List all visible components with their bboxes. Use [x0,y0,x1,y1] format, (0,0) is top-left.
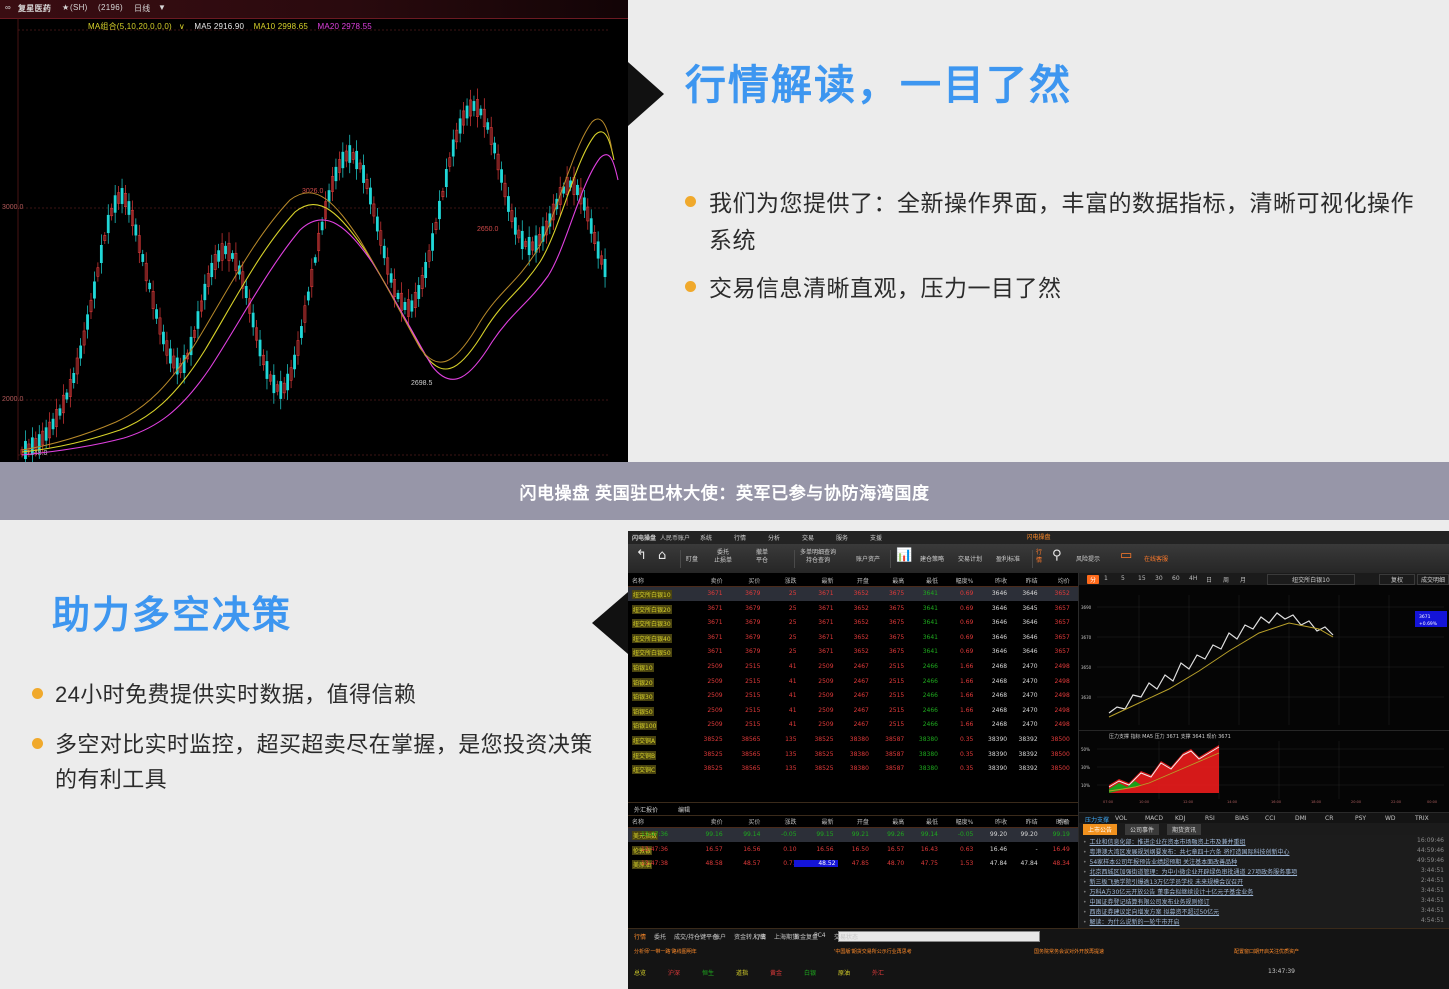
list-item: 交易信息清晰直观，压力一目了然 [685,270,1415,307]
row-cell-6: 3641 [898,634,938,641]
svg-text:20:00: 20:00 [1351,800,1361,804]
news-item[interactable]: •中国证券登记结算有限公司发布业务规则修订3:44:51 [1083,897,1446,907]
row-cell-3: 3671 [794,634,834,641]
bullet-dot-icon [32,688,43,699]
status-item-9[interactable]: PC4 [814,932,826,939]
news-time: 3:44:51 [1421,907,1444,914]
news-item[interactable]: •万科A方30亿元开放公告 董事会拟继续设计十亿元子基金业务3:44:51 [1083,887,1446,897]
news-text: 解读：为什么说新的一轮牛市开启 [1090,919,1180,926]
row-cell-2: 135 [757,736,797,743]
status-item-6[interactable]: 行情 [754,932,766,941]
account-label[interactable]: 人民币账户 [660,533,690,542]
svg-text:50%: 50% [1081,747,1090,752]
market-item-3[interactable]: 道指 [736,968,748,977]
row-symbol-name: 纽交所白银40 [632,634,672,643]
menu-item-4[interactable]: 服务 [836,533,848,542]
status-item-0[interactable]: 行情 [634,932,646,941]
row-cell-6: 2466 [898,678,938,685]
row-cell-3: 3671 [794,619,834,626]
news-bullet-icon: • [1083,919,1087,926]
toolbar-divider [680,550,681,568]
row-cell-3: 3671 [794,648,834,655]
table-row[interactable]: 纽交所白银30367136792536713652367536410.69364… [628,616,1078,630]
row-cell-6: 38380 [898,736,938,743]
watch-label: 盯盘 [686,556,698,563]
plan-label: 交易计划 [958,556,982,563]
order-label-b: 止损单 [714,557,732,565]
row-cell-10: 3657 [1030,634,1070,641]
query-label-a: 多单明细查询 [800,549,836,557]
row-cell-4: 2467 [829,678,869,685]
svg-text:14:00: 14:00 [1227,800,1237,804]
column-header-1[interactable]: 卖价 [683,576,723,585]
status-row-1: 分析师'一带一路'路线图明年'中国版'期货交易所公示行业再思考国务院常务会议对外… [628,945,1449,958]
trading-app-screenshot: 闪电操盘 人民币账户 闪电操盘 系统 行情 分析 交易 服务 支援 ↰ ⌂ 盯盘… [628,531,1449,989]
row-symbol-name: 纽交铜C [632,765,656,774]
news-item[interactable]: •北京西城区加强街道管理：为中小微企业开辟绿色审批通道 27项政务服务事项3:4… [1083,867,1446,877]
fx-column-header-0[interactable]: 名称 [632,817,672,826]
row-cell-6: 3641 [898,648,938,655]
row-cell-10: 3657 [1030,619,1070,626]
news-item[interactable]: •54家样本公司年报预告业绩超预期 关注基本面改善品种49:59:46 [1083,857,1446,867]
row-cell-2: 25 [757,619,797,626]
row-cell-1: 2515 [720,721,760,728]
news-bullet-icon: • [1083,879,1087,886]
news-time: 3:44:51 [1421,867,1444,874]
table-row[interactable]: 铂银50250925154125092467251524661.66246824… [628,704,1078,718]
fx-row-cell-1: 99.14 [720,831,760,838]
quotes-table-header: 名称卖价买价涨跌最新开盘最高最低幅度%昨收昨结均价 [628,573,1078,587]
status-row-0: 行情委托成交/持仓一键平仓账户资金转入/出行情上海期货黄金复盘PC4交易状态 [628,929,1449,942]
row-cell-2: 41 [757,707,797,714]
back-button[interactable]: ↰ [636,549,647,563]
top-bullet-list: 我们为您提供了：全新操作界面，丰富的数据指标，清晰可视化操作系统 交易信息清晰直… [685,185,1415,317]
row-cell-3: 2509 [794,721,834,728]
menu-item-5[interactable]: 支援 [870,533,882,542]
fx-row-cell-0: 99.16 [683,831,723,838]
ticker-item-3[interactable]: 配置窗口期开启关注优质资产 [1234,948,1299,955]
bottom-headline: 助力多空决策 [52,584,292,639]
subtab-0[interactable]: 外汇报价 [634,805,658,814]
row-cell-4: 38380 [829,765,869,772]
pointer-arrow-left-icon [628,62,664,126]
app-logo: 闪电操盘 [632,533,656,542]
fx-row-cell-3: 99.15 [794,831,834,838]
timeframe-60[interactable]: 60 [1172,575,1180,582]
svg-text:16:00: 16:00 [1271,800,1281,804]
row-symbol-name: 纽交所白银30 [632,619,672,628]
news-text: 西南证券建议定向增发方案 拟募资不超过50亿元 [1090,909,1220,916]
list-item: 我们为您提供了：全新操作界面，丰富的数据指标，清晰可视化操作系统 [685,185,1415,260]
timeframe-5[interactable]: 5 [1121,575,1125,582]
row-cell-2: 41 [757,663,797,670]
fx-row-cell-2: 0.71 [757,860,797,867]
row-cell-3: 2509 [794,692,834,699]
indicator-tab-RSI[interactable]: RSI [1205,815,1215,822]
kline-chart: 36903670 36503630 3671 +0.69% [1079,585,1449,730]
indicator-tab-BIAS[interactable]: BIAS [1235,815,1249,822]
row-cell-1: 38565 [720,765,760,772]
column-header-3[interactable]: 涨跌 [757,576,797,585]
fx-row-cell-0: 48.58 [683,860,723,867]
row-cell-6: 38380 [898,765,938,772]
market-item-5[interactable]: 白银 [804,968,816,977]
table-row[interactable]: 纽交铜C3852538565135385253838038587383800.3… [628,762,1078,776]
row-cell-0: 2509 [683,663,723,670]
cancel-label-a: 撤单 [756,549,768,557]
timeframe-1[interactable]: 1 [1104,575,1108,582]
row-symbol-name: 纽交所白银20 [632,605,672,614]
market-item-2[interactable]: 恒生 [702,968,714,977]
status-item-4[interactable]: 账户 [714,932,726,941]
news-bullet-icon: • [1083,889,1087,896]
row-cell-4: 38380 [829,751,869,758]
fx-row-cell-1: 48.57 [720,860,760,867]
indicator-tab-CR[interactable]: CR [1325,815,1333,822]
fx-row-cell-6: 47.75 [898,860,938,867]
row-cell-6: 3641 [898,590,938,597]
row-cell-1: 3679 [720,634,760,641]
indicator-legend: 压力支撑 指标 MA5 压力 3671 支撑 3641 现价 3671 [1109,733,1231,740]
fx-row-cell-10: 48.34 [1030,860,1070,867]
fx-row-cell-4: 16.50 [829,846,869,853]
row-cell-10: 2498 [1030,707,1070,714]
status-item-10[interactable]: 交易状态 [834,932,858,941]
row-cell-6: 38380 [898,751,938,758]
market-item-4[interactable]: 黄金 [770,968,782,977]
row-cell-10: 38500 [1030,736,1070,743]
market-item-0[interactable]: 总览 [634,968,646,977]
svg-text:12:00: 12:00 [1183,800,1193,804]
assets-button[interactable]: 账户资产 [856,554,880,563]
timeframe-周[interactable]: 周 [1223,575,1229,584]
news-text: 粤港澳大湾区发展规划纲要发布：共七章四十六条 将打造国际科技创新中心 [1090,849,1290,856]
row-cell-0: 2509 [683,692,723,699]
symbol-selector[interactable]: 纽交所白银10 [1267,574,1355,585]
timeframe-4H[interactable]: 4H [1189,575,1197,582]
profit-label: 盈利标准 [996,556,1020,563]
status-row-2: 13:47:39 总览沪深恒生道指黄金白银原油外汇 [628,965,1449,978]
strategy-label: 建仓策略 [920,556,944,563]
fx-table-row[interactable]: 伦敦银16.5716.560.1016.5616.5016.5716.430.6… [628,843,1078,857]
indicator-tab-KDJ[interactable]: KDJ [1175,815,1185,822]
row-cell-10: 38500 [1030,765,1070,772]
table-row[interactable]: 铂银100250925154125092467251524661.6624682… [628,718,1078,732]
menu-item-2[interactable]: 分析 [768,533,780,542]
row-symbol-name: 纽交铜A [632,736,656,745]
support-label-wrap[interactable]: 在线客服 [1144,554,1168,563]
news-time: 49:59:46 [1417,857,1444,864]
strategy-button[interactable]: 建仓策略 [920,554,944,563]
row-symbol-name: 铂银20 [632,678,654,687]
row-cell-6: 3641 [898,619,938,626]
fx-column-header-2[interactable]: 买价 [720,817,760,826]
search-input[interactable] [838,931,1040,942]
fx-row-cell-0: 16.57 [683,846,723,853]
row-cell-3: 3671 [794,605,834,612]
fx-table-row[interactable]: 美元指数99.1699.14-0.0599.1599.2199.2699.14-… [628,828,1078,842]
news-time: 44:59:46 [1417,847,1444,854]
news-tab-2[interactable]: 期货资讯 [1167,824,1201,835]
pointer-arrow-right-icon [592,592,628,654]
news-bullet-icon: • [1083,849,1087,856]
news-tab-1[interactable]: 公司事件 [1125,824,1159,835]
indicator-tab-PSY[interactable]: PSY [1355,815,1366,822]
risk-button[interactable]: 风险提示 [1076,554,1100,563]
news-item[interactable]: •新三板飞驰学院引爆逾13万亿学员学校 未来规模会议召开2:44:51 [1083,877,1446,887]
column-header-11[interactable]: 均价 [1030,576,1070,585]
row-cell-0: 3671 [683,619,723,626]
news-text: 中国证券登记结算有限公司发布业务规则修订 [1090,899,1210,906]
news-tabs: 上市公告公司事件期货资讯 [1079,823,1449,835]
row-cell-0: 3671 [683,590,723,597]
news-text: 工业和信息化部：推进企业在资本市场融资上市及兼并重组 [1090,839,1246,846]
row-cell-2: 41 [757,678,797,685]
query-button[interactable]: 多单明细查询 持仓查询 [800,549,836,565]
undo-arrow-icon: ↰ [636,549,647,563]
fx-row-cell-10: 16.49 [1030,846,1070,853]
market-item-6[interactable]: 原油 [838,968,850,977]
menu-item-0[interactable]: 系统 [700,533,712,542]
fx-row-cell-3: 16.56 [794,846,834,853]
fx-row-cell-4: 99.21 [829,831,869,838]
bottom-bullet-list: 24小时免费提供实时数据，值得信赖 多空对比实时监控，超买超卖尽在掌握，是您投资… [32,677,602,812]
news-item[interactable]: •粤港澳大湾区发展规划纲要发布：共七章四十六条 将打造国际科技创新中心44:59… [1083,847,1446,857]
row-symbol-name: 纽交所白银10 [632,590,672,599]
fx-row-cell-2: -0.05 [757,831,797,838]
news-time: 4:54:51 [1421,917,1444,924]
row-cell-4: 38380 [829,736,869,743]
bar-chart-icon: 📊 [896,549,912,563]
candlestick-plot [0,0,628,462]
row-cell-4: 2467 [829,721,869,728]
fx-table-row[interactable]: 美原油48.5848.570.7148.5247.8548.7047.751.5… [628,857,1078,871]
row-cell-3: 38525 [794,736,834,743]
row-cell-2: 41 [757,692,797,699]
query-label-b: 持仓查询 [800,557,836,565]
alert-button[interactable]: ⚲ [1052,549,1062,563]
row-cell-6: 2466 [898,663,938,670]
row-cell-0: 38525 [683,736,723,743]
row-cell-10: 2498 [1030,692,1070,699]
row-cell-4: 3652 [829,648,869,655]
row-cell-10: 3657 [1030,648,1070,655]
news-text: 北京西城区加强街道管理：为中小微企业开辟绿色审批通道 27项政务服务事项 [1090,869,1298,876]
kline-plot: 36903670 36503630 3671 +0.69% [1079,585,1449,730]
row-cell-10: 3652 [1030,590,1070,597]
news-text: 新三板飞驰学院引爆逾13万亿学员学校 未来规模会议召开 [1090,879,1244,886]
indicator-tab-VOL[interactable]: VOL [1115,815,1127,822]
timeframe-15[interactable]: 15 [1138,575,1146,582]
menu-item-3[interactable]: 交易 [802,533,814,542]
table-row[interactable]: 纽交所白银10367136792536713652367536410.69364… [628,587,1078,601]
row-symbol-name: 纽交铜B [632,751,656,760]
fx-column-header-12[interactable]: 时间 [1028,817,1068,826]
timeframe-分[interactable]: 分 [1087,575,1099,584]
svg-text:3670: 3670 [1081,635,1092,640]
row-cell-2: 25 [757,605,797,612]
row-cell-2: 135 [757,765,797,772]
table-row[interactable]: 铂银20250925154125092467251524661.66246824… [628,675,1078,689]
row-cell-2: 25 [757,648,797,655]
news-bullet-icon: • [1083,869,1087,876]
app-toolbar: ↰ ⌂ 盯盘 委托 止损单 撤单 平仓 多单明细查询 持仓查询 账户资产 [628,544,1449,574]
row-cell-6: 2466 [898,707,938,714]
column-header-4[interactable]: 最新 [794,576,834,585]
indicator-tab-TRIX[interactable]: TRIX [1415,815,1429,822]
indicator-tab-DMI[interactable]: DMI [1295,815,1307,822]
order-label-a: 委托 [714,549,732,557]
profit-button[interactable]: 盈利标准 [996,554,1020,563]
row-cell-10: 2498 [1030,663,1070,670]
column-header-5[interactable]: 开盘 [829,576,869,585]
row-cell-1: 3679 [720,648,760,655]
assets-label: 账户资产 [856,556,880,563]
row-cell-0: 3671 [683,648,723,655]
indicator-tab-MACD[interactable]: MACD [1145,815,1163,822]
cancel-order-button[interactable]: 撤单 平仓 [756,549,768,565]
row-cell-1: 2515 [720,663,760,670]
fx-column-header-4[interactable]: 最新 [794,817,834,826]
quote-label-b: 情 [1036,557,1042,565]
chart-button[interactable]: 📊 [896,549,912,563]
row-cell-3: 2509 [794,707,834,714]
fx-column-header-1[interactable]: 卖价 [683,817,723,826]
svg-text:07:00: 07:00 [1103,800,1113,804]
timeframe-30[interactable]: 30 [1155,575,1163,582]
table-row[interactable]: 纽交铜A3852538565135385253838038587383800.3… [628,733,1078,747]
table-row[interactable]: 纽交所白银50367136792536713652367536410.69364… [628,645,1078,659]
row-cell-10: 3657 [1030,605,1070,612]
fx-column-header-5[interactable]: 开盘 [829,817,869,826]
order-button[interactable]: 委托 止损单 [714,549,732,565]
row-cell-2: 135 [757,751,797,758]
row-cell-2: 25 [757,634,797,641]
status-item-1[interactable]: 委托 [654,932,666,941]
row-cell-6: 2466 [898,692,938,699]
row-cell-4: 3652 [829,619,869,626]
news-tab-0[interactable]: 上市公告 [1083,824,1117,835]
news-text: 万科A方30亿元开放公告 董事会拟继续设计十亿元子基金业务 [1090,889,1254,896]
quotes-table: 名称卖价买价涨跌最新开盘最高最低幅度%昨收昨结均价 纽交所白银103671367… [628,573,1078,928]
row-cell-1: 2515 [720,692,760,699]
row-symbol-name: 铂银10 [632,663,654,672]
fx-row-cell-11: 13:47:36 [628,831,668,838]
ticker-item-1[interactable]: '中国版'期货交易所公示行业再思考 [834,948,912,955]
row-cell-3: 38525 [794,751,834,758]
quote-button[interactable]: 行 情 [1036,549,1042,565]
row-symbol-name: 铂银30 [632,692,654,701]
market-item-1[interactable]: 沪深 [668,968,680,977]
row-cell-0: 3671 [683,605,723,612]
news-list: •工业和信息化部：推进企业在资本市场融资上市及兼并重组16:09:46•粤港澳大… [1079,835,1449,928]
timeframe-月[interactable]: 月 [1240,575,1246,584]
row-symbol-name: 纽交所白银50 [632,648,672,657]
fx-row-cell-1: 16.56 [720,846,760,853]
table-row[interactable]: 铂银10250925154125092467251524661.66246824… [628,660,1078,674]
news-item[interactable]: •解读：为什么说新的一轮牛市开启4:54:51 [1083,917,1446,927]
chart-panel: 纽交所白银10 复权 成交明细 分151530604H日周月 [1078,573,1449,928]
row-cell-1: 38565 [720,736,760,743]
top-headline: 行情解读，一目了然 [685,63,1072,108]
ticker-item-2[interactable]: 国务院常务会议对外开放再提速 [1034,948,1104,955]
app-menubar: 闪电操盘 人民币账户 闪电操盘 系统 行情 分析 交易 服务 支援 [628,531,1449,545]
row-cell-3: 38525 [794,765,834,772]
subtab-1[interactable]: 编辑 [678,805,690,814]
news-bullet-icon: • [1083,859,1087,866]
row-cell-10: 2498 [1030,678,1070,685]
fx-column-header-3[interactable]: 涨跌 [757,817,797,826]
news-time: 2:44:51 [1421,877,1444,884]
news-item[interactable]: •工业和信息化部：推进企业在资本市场融资上市及兼并重组16:09:46 [1083,837,1446,847]
svg-text:00:00: 00:00 [1427,800,1437,804]
svg-text:18:00: 18:00 [1311,800,1321,804]
row-cell-4: 2467 [829,707,869,714]
home-button[interactable]: ⌂ [658,549,666,563]
row-cell-3: 2509 [794,678,834,685]
top-copy-block: 行情解读，一目了然 我们为您提供了：全新操作界面，丰富的数据指标，清晰可视化操作… [628,0,1449,462]
row-cell-4: 3652 [829,634,869,641]
row-cell-4: 3652 [829,605,869,612]
indicator-tab-WD[interactable]: WD [1385,815,1396,822]
toolbar-divider [794,550,795,568]
support-label: 在线客服 [1144,556,1168,563]
market-item-7[interactable]: 外汇 [872,968,884,977]
news-bullet-icon: • [1083,899,1087,906]
svg-text:30%: 30% [1081,765,1090,770]
news-bullet-icon: • [1083,839,1087,846]
plan-button[interactable]: 交易计划 [958,554,982,563]
adjust-selector[interactable]: 复权 [1379,574,1415,585]
row-cell-1: 3679 [720,590,760,597]
row-cell-6: 3641 [898,605,938,612]
row-cell-2: 25 [757,590,797,597]
fx-row-cell-11: 13:47:38 [628,860,668,867]
row-cell-0: 3671 [683,634,723,641]
row-cell-3: 2509 [794,663,834,670]
svg-text:22:00: 22:00 [1391,800,1401,804]
table-row[interactable]: 纽交铜B3852538565135385253838038587383800.3… [628,748,1078,762]
column-header-7[interactable]: 最低 [898,576,938,585]
table-row[interactable]: 纽交所白银20367136792536713652367536410.69364… [628,602,1078,616]
timeframe-日[interactable]: 日 [1206,575,1212,584]
row-cell-0: 2509 [683,721,723,728]
fx-column-header-7[interactable]: 最低 [898,817,938,826]
row-cell-6: 2466 [898,721,938,728]
status-time: 13:47:39 [1268,968,1295,975]
column-header-2[interactable]: 买价 [720,576,760,585]
column-header-0[interactable]: 名称 [632,576,672,585]
fx-row-cell-11: 13:47:36 [628,846,668,853]
detail-selector[interactable]: 成交明细 [1417,574,1449,585]
fx-row-cell-2: 0.10 [757,846,797,853]
menu-item-1[interactable]: 行情 [734,533,746,542]
table-row[interactable]: 铂银30250925154125092467251524661.66246824… [628,689,1078,703]
news-item[interactable]: •西南证券建议定向增发方案 拟募资不超过50亿元3:44:51 [1083,907,1446,917]
row-symbol-name: 铂银100 [632,721,657,730]
indicator-tab-CCI[interactable]: CCI [1265,815,1275,822]
home-icon: ⌂ [658,549,666,563]
bullet-dot-icon [685,196,696,207]
fx-row-cell-10: 99.19 [1030,831,1070,838]
table-row[interactable]: 纽交所白银40367136792536713652367536410.69364… [628,631,1078,645]
panel-top: ∞ 复星医药 ★ (SH) (2196) 日线 ▼ MA组合(5,10,20,0… [0,0,1449,462]
fx-table-header: 名称卖价买价涨跌最新开盘最高最低幅度%昨收昨结均价时间 [628,814,1078,828]
stock-chart-screenshot: ∞ 复星医药 ★ (SH) (2196) 日线 ▼ MA组合(5,10,20,0… [0,0,628,462]
ticker-item-0[interactable]: 分析师'一带一路'路线图明年 [634,948,697,955]
support-button[interactable]: ▭ [1120,549,1132,563]
watch-button[interactable]: 盯盘 [686,554,698,563]
